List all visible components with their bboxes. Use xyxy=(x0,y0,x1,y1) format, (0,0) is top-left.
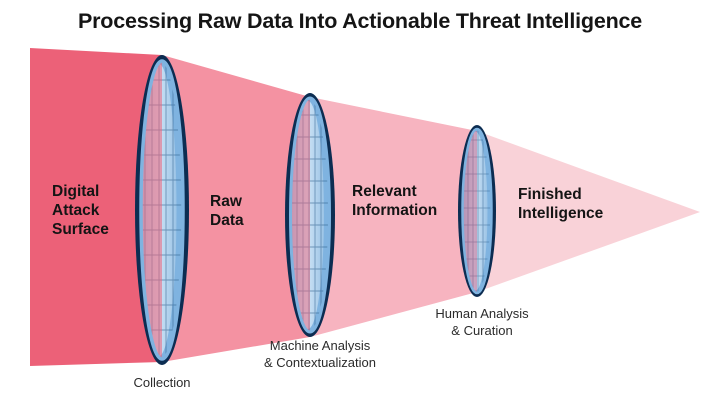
beam-segment-4 xyxy=(477,131,700,292)
beam-segment-3 xyxy=(310,97,477,337)
beam-group xyxy=(30,48,700,366)
diagram-canvas: Processing Raw Data Into Actionable Thre… xyxy=(0,0,720,405)
funnel-lens-graphic xyxy=(0,0,720,405)
